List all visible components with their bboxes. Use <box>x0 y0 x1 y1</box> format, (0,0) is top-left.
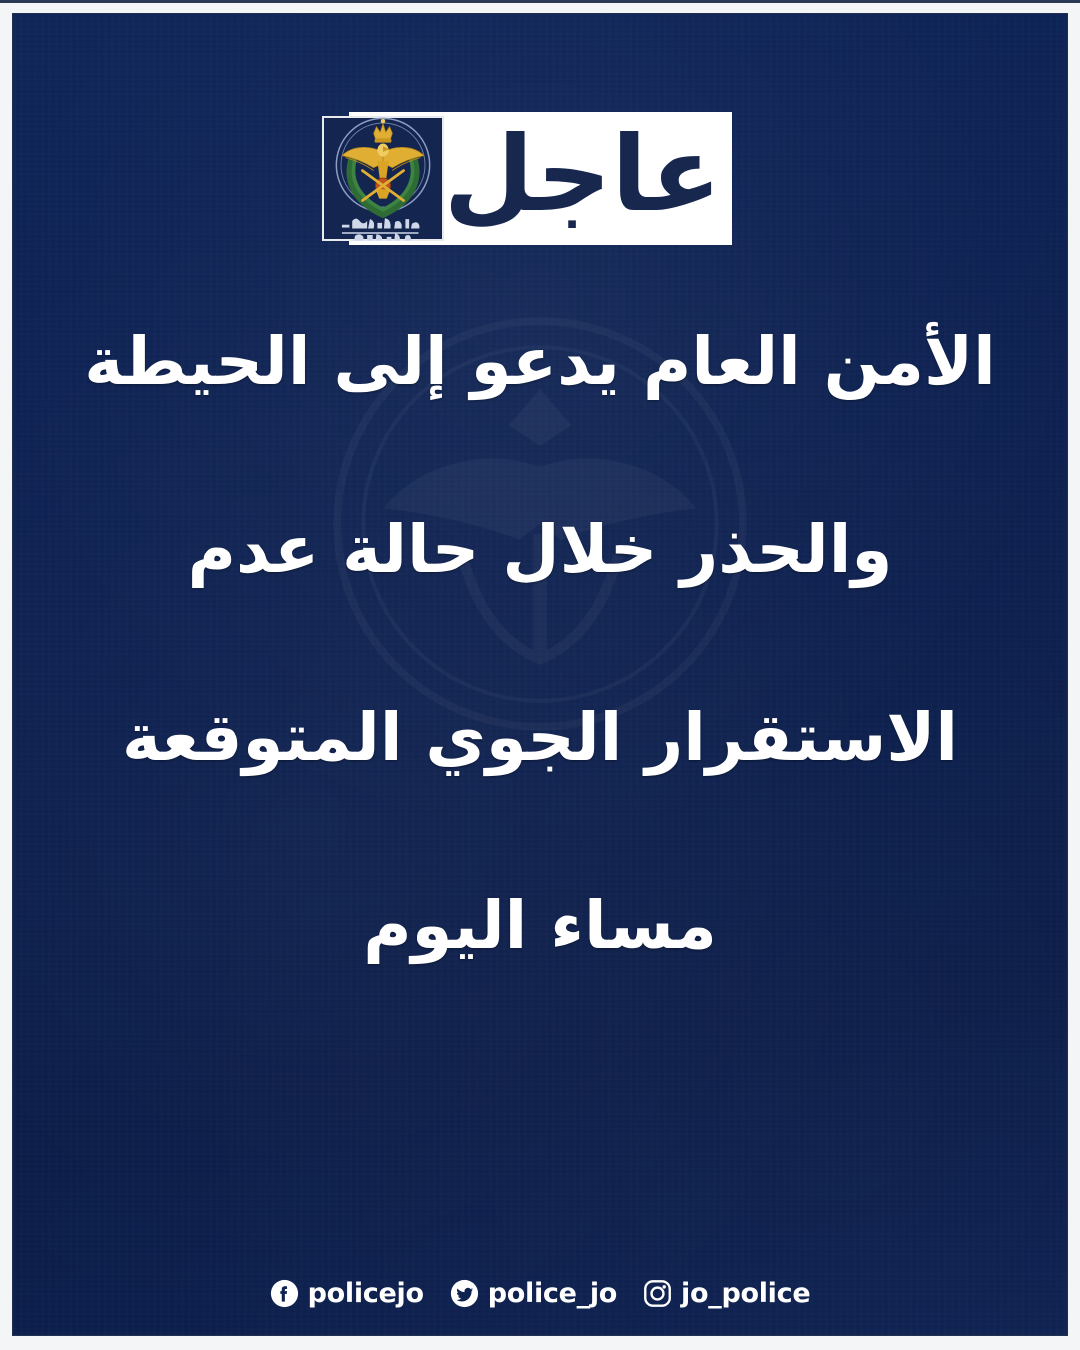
headline-line-1: الأمن العام يدعو إلى الحيطة <box>70 329 1010 395</box>
headline-line-4: مساء اليوم <box>70 893 1010 959</box>
headline-line-3: الاستقرار الجوي المتوقعة <box>70 705 1010 771</box>
social-footer: policejo police_jo <box>13 1279 1067 1308</box>
instagram-handle: jo_police <box>681 1280 810 1307</box>
top-hairline <box>0 0 1080 3</box>
twitter-icon <box>450 1279 479 1308</box>
twitter-handle: police_jo <box>488 1280 617 1307</box>
headline: الأمن العام يدعو إلى الحيطة والحذر خلال … <box>70 329 1010 959</box>
facebook-handle: policejo <box>308 1280 424 1307</box>
facebook-icon <box>270 1279 299 1308</box>
social-facebook[interactable]: policejo <box>270 1279 424 1308</box>
psd-emblem <box>322 116 444 241</box>
headline-line-2: والحذر خلال حالة عدم <box>70 517 1010 583</box>
poster-canvas: عاجل <box>12 13 1068 1336</box>
social-instagram[interactable]: jo_police <box>643 1279 810 1308</box>
poster-frame: عاجل <box>0 0 1080 1350</box>
urgent-label: عاجل <box>444 116 728 241</box>
instagram-icon <box>643 1279 672 1308</box>
urgent-banner: عاجل <box>349 112 732 245</box>
social-twitter[interactable]: police_jo <box>450 1279 617 1308</box>
